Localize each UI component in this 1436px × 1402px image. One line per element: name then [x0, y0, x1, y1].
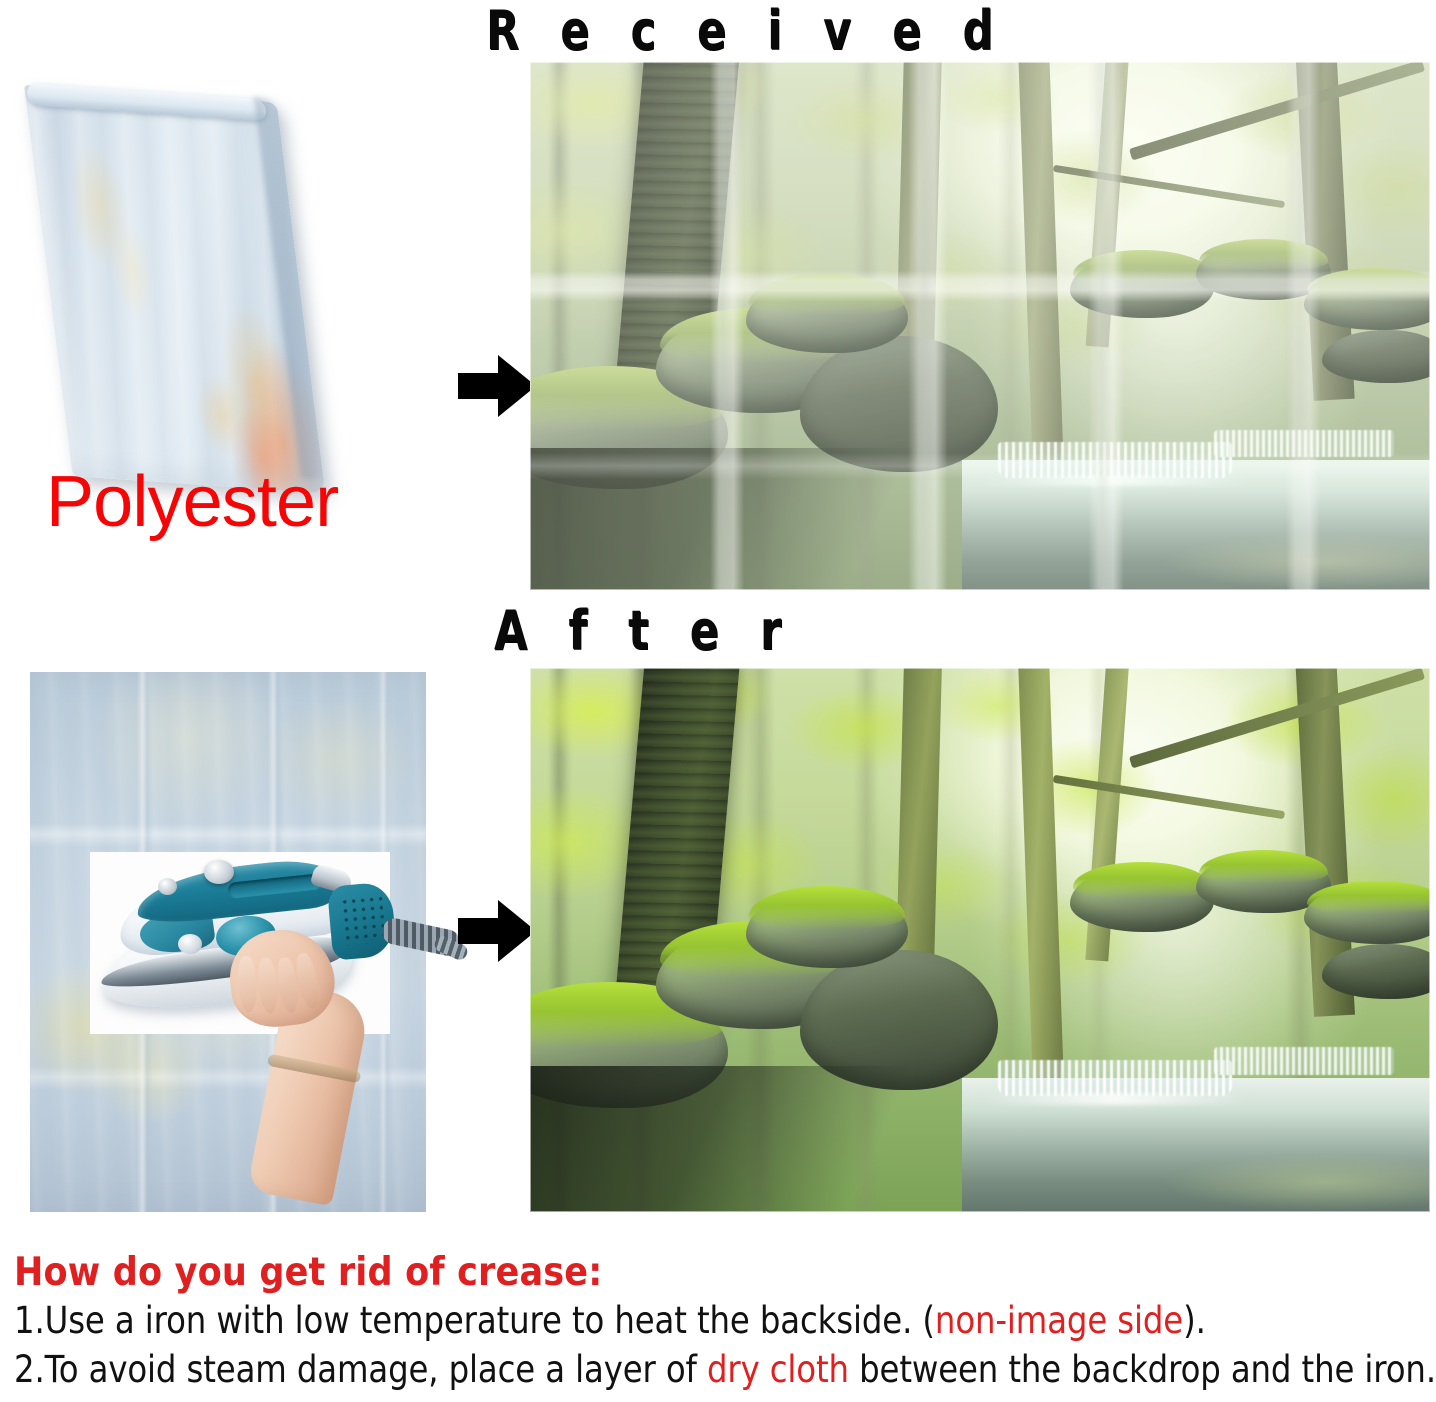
- care-line-2-highlight: dry cloth: [707, 1348, 849, 1391]
- care-instructions: How do you get rid of crease: 1.Use a ir…: [14, 1252, 1426, 1392]
- image-border: [530, 62, 1430, 590]
- care-line-1-part-b: ).: [1183, 1299, 1206, 1342]
- finger: [237, 956, 258, 1013]
- wrist-bracelet: [267, 1054, 362, 1084]
- polyester-material-label: Polyester: [46, 466, 338, 538]
- iron-burst-button: [158, 878, 177, 895]
- after-backdrop-preview: [530, 668, 1430, 1212]
- care-line-2-part-b: between the backdrop and the iron.: [849, 1348, 1436, 1391]
- care-instruction-line-2: 2.To avoid steam damage, place a layer o…: [14, 1349, 1250, 1392]
- received-backdrop-preview: [530, 62, 1430, 590]
- care-line-1-highlight: non-image side: [935, 1299, 1183, 1342]
- care-instructions-heading: How do you get rid of crease:: [14, 1252, 1285, 1294]
- finger: [293, 952, 321, 1010]
- iron-spray-button: [178, 934, 202, 954]
- arrow-right-icon: [458, 900, 536, 962]
- iron-vent-holes: [340, 894, 386, 945]
- arrow-right-icon: [458, 355, 536, 417]
- finger: [256, 957, 279, 1014]
- care-instruction-line-1: 1.Use a iron with low temperature to hea…: [14, 1300, 1250, 1343]
- section-title-received: R e c e i v e d: [486, 4, 1006, 58]
- folded-polyester-backdrop: [18, 85, 414, 485]
- section-title-after: A f t e r: [494, 604, 794, 658]
- iron-steam-knob: [204, 860, 234, 884]
- steam-iron: [96, 862, 456, 1192]
- care-line-2-part-a: 2.To avoid steam damage, place a layer o…: [14, 1348, 707, 1391]
- care-line-1-part-a: 1.Use a iron with low temperature to hea…: [14, 1299, 935, 1342]
- image-border: [530, 668, 1430, 1212]
